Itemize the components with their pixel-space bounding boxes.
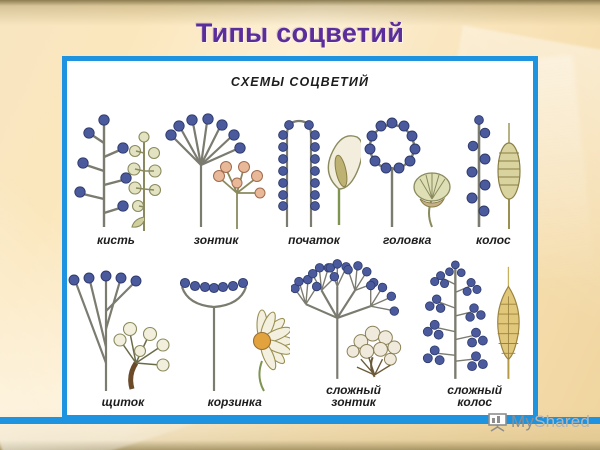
spike-diagram [453, 109, 533, 233]
diagram-cell-spadix: початок [267, 97, 360, 247]
raceme-diagram [68, 109, 164, 233]
caption-head: головка [383, 234, 431, 247]
umbel-diagram [165, 109, 267, 233]
diagram-cell-capitulum: корзинка [179, 257, 291, 409]
spadix-diagram [267, 109, 361, 233]
compound-spike-diagram [417, 257, 533, 383]
slide-canvas: Типы соцветий СХЕМЫ СОЦВЕТИЙ [0, 0, 600, 450]
presentation-board-icon [487, 412, 508, 432]
corymb-diagram [68, 267, 178, 395]
head-diagram [360, 109, 454, 233]
watermark-text-primary: My [511, 412, 534, 431]
diagram-row-1: кисть [67, 97, 533, 247]
panel-title: СХЕМЫ СОЦВЕТИЙ [67, 75, 533, 89]
diagram-cell-corymb: щиток [67, 257, 179, 409]
caption-compound-spike: сложный колос [447, 384, 502, 409]
caption-compound-umbel: сложный зонтик [326, 384, 381, 409]
diagram-cell-compound-umbel: сложный зонтик [291, 257, 417, 409]
diagram-panel: СХЕМЫ СОЦВЕТИЙ [62, 56, 538, 420]
caption-umbel: зонтик [194, 234, 239, 247]
capitulum-diagram [180, 267, 290, 395]
page-title: Типы соцветий [0, 18, 600, 49]
caption-corymb: щиток [102, 396, 144, 409]
diagram-cell-raceme: кисть [67, 97, 165, 247]
caption-spike: колос [476, 234, 511, 247]
diagram-cell-head: головка [361, 97, 454, 247]
caption-raceme: кисть [97, 234, 135, 247]
caption-spadix: початок [288, 234, 340, 247]
diagram-cell-umbel: зонтик [165, 97, 268, 247]
diagram-cell-compound-spike: сложный колос [416, 257, 533, 409]
myshared-watermark: MyShared [487, 412, 590, 432]
diagram-row-2: щиток [67, 257, 533, 409]
diagram-cell-spike: колос [454, 97, 533, 247]
watermark-text-secondary: Shared [534, 412, 590, 431]
compound-umbel-diagram [291, 257, 417, 383]
caption-capitulum: корзинка [208, 396, 262, 409]
watermark-text: MyShared [511, 412, 590, 432]
